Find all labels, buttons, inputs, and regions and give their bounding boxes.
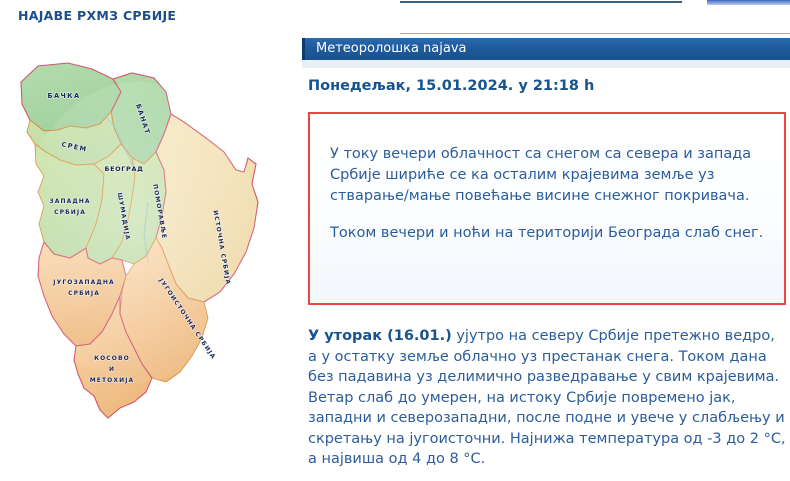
- tuesday-forecast-block: У уторак (16.01.) ујутро на северу Србиј…: [308, 326, 788, 470]
- serbia-region-map: БАЧКА БАНАТ СРЕМ БЕОГРАД ЗАПАДНА СРБИЈА …: [8, 52, 292, 437]
- section-header-label: Метеоролошка najava: [316, 41, 467, 56]
- map-label-jugozapadna-srbija-1: ЈУГОЗАПАДНА: [52, 279, 114, 286]
- weather-alert-text: У току вечери облачност са снегом са сев…: [330, 144, 772, 244]
- map-label-kosovo-3: МЕТОХИЈА: [90, 377, 135, 384]
- alert-paragraph-2: Током вечери и ноћи на територији Београ…: [330, 223, 772, 244]
- tuesday-forecast-lead: У уторак (16.01.): [308, 328, 452, 344]
- map-label-backa: БАЧКА: [48, 92, 81, 100]
- map-svg: БАЧКА БАНАТ СРЕМ БЕОГРАД ЗАПАДНА СРБИЈА …: [8, 52, 292, 437]
- section-header-bar: Метеоролошка najava: [302, 38, 790, 60]
- right-panel: Метеоролошка najava Понедељак, 15.01.202…: [300, 0, 790, 481]
- section-header-underline: [302, 60, 790, 68]
- map-label-jugozapadna-srbija-2: СРБИЈА: [68, 290, 100, 297]
- forecast-datetime: Понедељак, 15.01.2024. у 21:18 h: [308, 78, 594, 94]
- page-title: НАЈАВЕ РХМЗ СРБИЈЕ: [18, 8, 176, 23]
- tuesday-forecast-body: ујутро на северу Србије претежно ведро, …: [308, 328, 786, 467]
- alert-paragraph-1: У току вечери облачност са снегом са сев…: [330, 144, 772, 207]
- map-label-zapadna-srbija-1: ЗАПАДНА: [49, 198, 90, 205]
- map-label-kosovo-1: КОСОВО: [94, 355, 130, 362]
- left-panel: НАЈАВЕ РХМЗ СРБИЈЕ: [0, 0, 292, 481]
- map-label-zapadna-srbija-2: СРБИЈА: [54, 209, 86, 216]
- weather-alert-box: У току вечери облачност са снегом са сев…: [308, 112, 786, 305]
- map-label-beograd: БЕОГРАД: [105, 165, 144, 173]
- map-label-kosovo-2: И: [109, 366, 115, 373]
